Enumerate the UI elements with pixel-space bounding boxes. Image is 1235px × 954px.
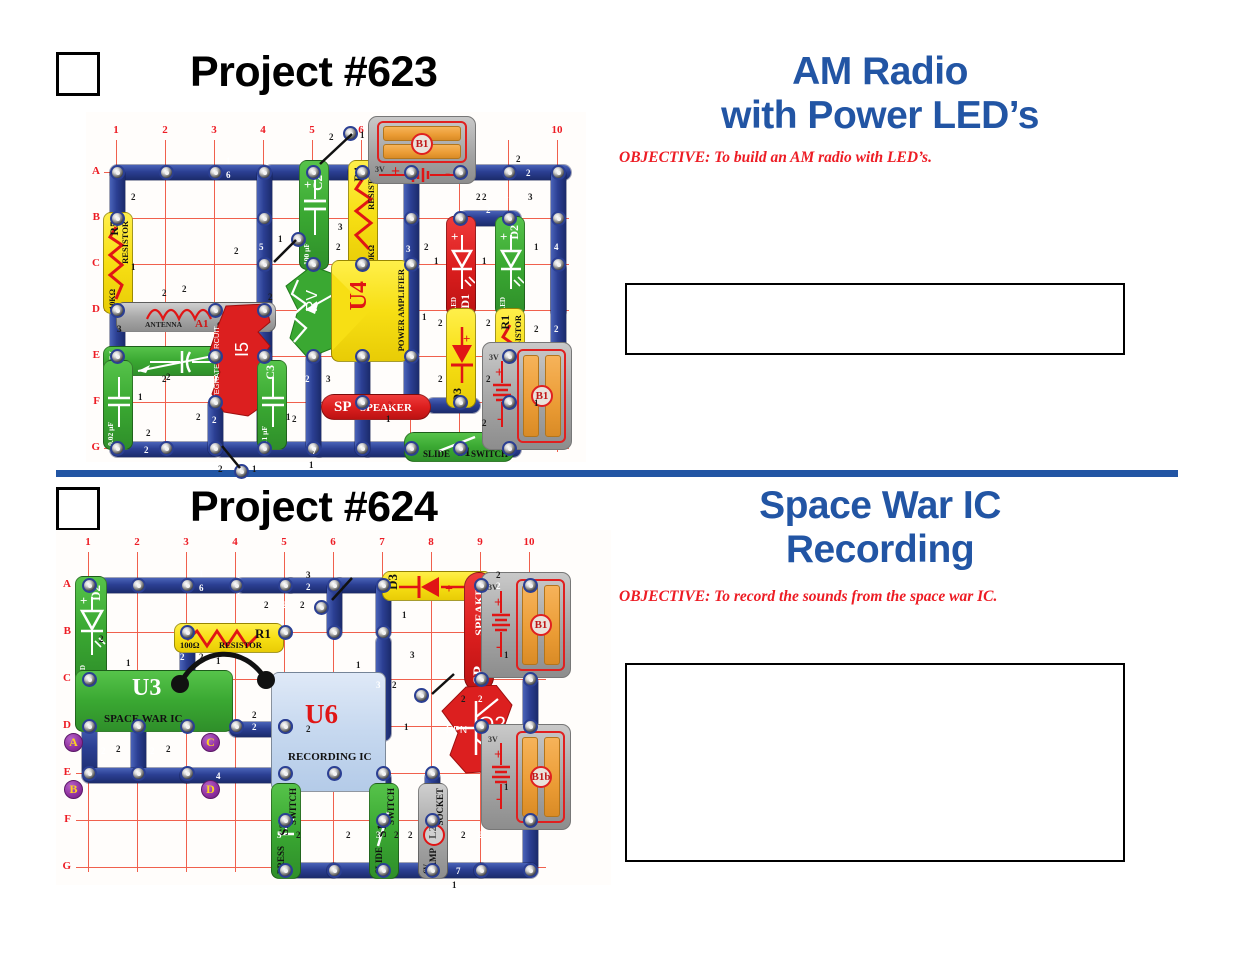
component-d3-plus: + (445, 582, 453, 598)
wire-number: 2 (438, 318, 443, 328)
col-label-8: 8 (424, 536, 438, 548)
peg-a4[interactable] (257, 165, 272, 180)
project-624-title-line1: Space War IC (600, 484, 1160, 528)
peg-a1[interactable] (110, 165, 125, 180)
wire-number: 2 (408, 830, 413, 840)
marker-c: C (201, 733, 220, 752)
wire-number: 1 (434, 256, 439, 266)
wire-number: 2 (305, 374, 310, 384)
wire-number: 1 (216, 656, 221, 666)
peg-d1[interactable] (82, 719, 97, 734)
component-b1-minus: - (497, 411, 502, 428)
wire-number: 2 (264, 600, 269, 610)
project-623-title: AM Radio with Power LED’s (600, 50, 1160, 138)
component-d2-plus: + (80, 593, 87, 609)
wire-number: 1 (360, 130, 365, 140)
col-label-3: 3 (179, 536, 193, 548)
col-label-10: 10 (550, 124, 564, 136)
peg-g4[interactable] (257, 441, 272, 456)
component-u4-name: POWER AMPLIFIER (396, 269, 406, 351)
wire-number: 3 (376, 680, 381, 690)
row-label-d: D (88, 303, 100, 315)
peg-e1[interactable] (82, 766, 97, 781)
wire-number: 2 (218, 464, 223, 474)
peg-d9[interactable] (474, 719, 489, 734)
wire-number: 4 (216, 771, 221, 781)
peg-c10[interactable] (551, 257, 566, 272)
col-label-7: 7 (375, 536, 389, 548)
component-u6-name: RECORDING IC (288, 751, 371, 763)
project-624-objective: OBJECTIVE: To record the sounds from the… (619, 588, 997, 606)
wire-e5-g5 (306, 352, 321, 452)
component-i5-ref: I5 (232, 342, 253, 357)
wire-number: 3 (406, 244, 411, 254)
component-s1-name-left: SLIDE (423, 449, 450, 459)
peg-a4[interactable] (229, 578, 244, 593)
peg-c9[interactable] (474, 672, 489, 687)
component-d1-plus: + (451, 229, 458, 245)
peg-a2[interactable] (131, 578, 146, 593)
wire-number: 2 (394, 830, 399, 840)
wire-number: 2 (461, 830, 466, 840)
component-r5-resistor[interactable]: R5 RESISTOR 10KΩ (103, 212, 133, 314)
peg-f7[interactable] (355, 395, 370, 410)
col-label-9: 9 (473, 536, 487, 548)
wire-number: 1 (286, 412, 291, 422)
peg-a5[interactable] (306, 165, 321, 180)
row-label-c: C (88, 257, 100, 269)
row-label-g: G (88, 441, 100, 453)
component-d1-led[interactable]: + D1 LED (446, 216, 476, 316)
peg-e6[interactable] (327, 766, 342, 781)
wire-number: 1 (404, 722, 409, 732)
wire-number: 2 (234, 246, 239, 256)
wire-number: 2 (101, 746, 106, 756)
project-623-number: Project #623 (190, 48, 437, 97)
peg-a3[interactable] (208, 165, 223, 180)
component-c3-capacitor[interactable]: C3 0.1 μF (257, 360, 287, 450)
component-sp-speaker[interactable]: SP SPEAKER (321, 394, 431, 420)
peg-a3[interactable] (180, 578, 195, 593)
wire-number: 2 (116, 744, 121, 754)
row-label-g: G (59, 860, 71, 872)
wire-number: 2 (424, 242, 429, 252)
peg-f7[interactable] (376, 813, 391, 828)
wire-number: 7 (312, 446, 317, 456)
peg-a7[interactable] (376, 578, 391, 593)
peg-a2[interactable] (159, 165, 174, 180)
peg-f5[interactable] (278, 813, 293, 828)
peg-c1[interactable] (82, 672, 97, 687)
col-label-2: 2 (130, 536, 144, 548)
capacitor-symbol (258, 373, 287, 433)
marker-b: B (64, 780, 83, 799)
wire-number: 2 (496, 581, 501, 591)
wire-a1-a4 (110, 165, 270, 180)
component-b1-plus: + (391, 163, 400, 181)
peg-d1[interactable] (110, 303, 125, 318)
peg-e5[interactable] (278, 766, 293, 781)
component-u4-power-amplifier[interactable]: U4 POWER AMPLIFIER (331, 260, 409, 362)
peg-b1[interactable] (110, 211, 125, 226)
wire-number: 2 (482, 418, 487, 428)
grid-col-4 (235, 552, 236, 872)
wire-number: 1 (356, 660, 361, 670)
jumper-wire-black (166, 630, 286, 700)
row-label-b: B (59, 625, 71, 637)
wire-number: 2 (196, 412, 201, 422)
wire-number: 6 (199, 583, 204, 593)
wire-number: 5 (277, 830, 282, 840)
wire-number: 1 (309, 460, 314, 470)
peg-f10[interactable] (523, 813, 538, 828)
wire-number: 2 (461, 694, 466, 704)
wire-number: 2 (478, 694, 483, 704)
component-b1-battery-right[interactable]: B1 + - 3V (482, 342, 572, 450)
wire-number: 2 (282, 600, 287, 610)
wire-number: 1 (126, 658, 131, 668)
wire-number: 7 (456, 866, 461, 876)
jumper-wire-c5 (264, 232, 304, 272)
wire-number: 1 (504, 650, 509, 660)
peg-c6[interactable] (355, 257, 370, 272)
peg-g10[interactable] (523, 863, 538, 878)
wire-number: 1 (422, 312, 427, 322)
peg-d4[interactable] (257, 303, 272, 318)
wire-number: 2 (252, 710, 257, 720)
wire-number: 2 (292, 414, 297, 424)
project-623-objective: OBJECTIVE: To build an AM radio with LED… (619, 149, 932, 167)
component-d3-diode[interactable]: + D3 (446, 308, 476, 408)
wire-number: 2 (144, 445, 149, 455)
component-d2-led[interactable]: + D2 LED (495, 216, 525, 316)
wire-number: 2 (300, 600, 305, 610)
wire-number: 2 (180, 652, 185, 662)
wire-number: 1 (534, 398, 539, 408)
row-label-f: F (59, 813, 71, 825)
wire-number: 3 (326, 374, 331, 384)
peg-a1[interactable] (82, 578, 97, 593)
component-r5-name: RESISTOR (120, 221, 130, 264)
peg-e7[interactable] (404, 349, 419, 364)
component-d1-ref: D1 (458, 294, 473, 309)
wire-number: 2 (199, 652, 204, 662)
wire-number: 1 (199, 569, 204, 579)
wire-number: 1 (452, 880, 457, 890)
jumper-wire-g5 (214, 442, 254, 482)
jumper-wire-a6 (322, 572, 366, 610)
peg-e3[interactable] (208, 349, 223, 364)
row-label-e: E (88, 349, 100, 361)
col-label-6: 6 (326, 536, 340, 548)
peg-d7[interactable] (278, 719, 293, 734)
project-624-title-line2: Recording (600, 528, 1160, 572)
col-label-10: 10 (522, 536, 536, 548)
marker-d: D (201, 780, 220, 799)
wire-number: 2 (534, 324, 539, 334)
wire-number: 2 (212, 415, 217, 425)
wire-number: 2 (182, 284, 187, 294)
wire-number: 2 (438, 374, 443, 384)
component-b1b-badge: B1b (530, 766, 552, 788)
peg-d10[interactable] (523, 719, 538, 734)
peg-g2[interactable] (159, 441, 174, 456)
wire-number: 1 (386, 414, 391, 424)
peg-d6[interactable] (229, 719, 244, 734)
wire-number: 2 (252, 722, 257, 732)
peg-b6[interactable] (327, 625, 342, 640)
wire-number: 3 (388, 400, 393, 410)
component-b1-plus: + (494, 595, 503, 612)
component-c1-capacitor[interactable]: 0.02 μF (103, 360, 133, 450)
wire-number: 3 (338, 222, 343, 232)
component-a1-ref: A1 (195, 318, 208, 330)
peg-b4[interactable] (257, 211, 272, 226)
wire-number: 2 (526, 168, 531, 178)
col-label-5: 5 (277, 536, 291, 548)
peg-e5[interactable] (306, 349, 321, 364)
peg-e2[interactable] (131, 766, 146, 781)
wire-number: 2 (166, 744, 171, 754)
col-label-1: 1 (109, 124, 123, 136)
wire-number: 2 (131, 192, 136, 202)
component-sp-ref: SP (334, 399, 352, 416)
peg-e4[interactable] (257, 349, 272, 364)
peg-g6[interactable] (355, 441, 370, 456)
wire-number: 2 (478, 830, 483, 840)
col-label-4: 4 (256, 124, 270, 136)
wire-number: 2 (554, 324, 559, 334)
wire-number: 2 (166, 372, 171, 382)
project-623-circuit-board: 1 2 3 4 5 6 10 A B C D E F G R5 RESISTOR (86, 112, 586, 462)
peg-e9[interactable] (502, 349, 517, 364)
wire-number: 2 (150, 746, 155, 756)
component-d2-ref: D2 (507, 225, 522, 240)
peg-e1[interactable] (110, 349, 125, 364)
peg-c10[interactable] (523, 672, 538, 687)
peg-e6[interactable] (355, 349, 370, 364)
project-624-circuit-board: 1 2 3 4 5 6 7 8 9 10 A B C D E F G (56, 530, 611, 885)
wire-number: 2 (306, 582, 311, 592)
wire-number: 3 (528, 192, 533, 202)
peg-g7[interactable] (376, 863, 391, 878)
wire-number: 2 (336, 242, 341, 252)
wire-number: 2 (486, 374, 491, 384)
peg-g7[interactable] (404, 441, 419, 456)
component-u4-ref: U4 (346, 281, 373, 310)
peg-a9[interactable] (474, 578, 489, 593)
peg-d3[interactable] (208, 303, 223, 318)
row-label-e: E (59, 766, 71, 778)
component-c3-ref: C3 (263, 365, 278, 380)
wire-number: 1 (138, 392, 143, 402)
peg-a6[interactable] (355, 165, 370, 180)
component-a1-name-left: ANTENNA (145, 320, 182, 329)
peg-a7[interactable] (404, 165, 419, 180)
wire-number: 2 (162, 288, 167, 298)
wire-number: 2 (99, 634, 104, 644)
wire-number: 1 (278, 234, 283, 244)
peg-g8[interactable] (453, 441, 468, 456)
wire-number: 2 (486, 318, 491, 328)
peg-e7[interactable] (376, 766, 391, 781)
component-rv-ref: RV (304, 290, 322, 312)
peg-b9[interactable] (502, 211, 517, 226)
peg-b8[interactable] (453, 211, 468, 226)
wire-number: 1 (504, 782, 509, 792)
wire-number: 2 (392, 680, 397, 690)
peg-g6[interactable] (327, 863, 342, 878)
project-624-title: Space War IC Recording (600, 484, 1160, 572)
row-label-f: F (88, 395, 100, 407)
wire-number: 2 (516, 154, 521, 164)
peg-a5[interactable] (278, 578, 293, 593)
project-623-title-line1: AM Radio (600, 50, 1160, 94)
wire-number: 1 (226, 156, 231, 166)
peg-g1[interactable] (110, 441, 125, 456)
component-b1-minus: - (445, 165, 450, 183)
peg-e8[interactable] (425, 766, 440, 781)
row-label-d: D (59, 719, 71, 731)
wire-number: 3 (376, 830, 381, 840)
peg-a10[interactable] (523, 578, 538, 593)
wire-number: 3 (306, 570, 311, 580)
row-label-b: B (88, 211, 100, 223)
wire-number: 3 (117, 324, 122, 334)
peg-c5[interactable] (306, 257, 321, 272)
peg-f3[interactable] (208, 395, 223, 410)
project-623-answer-box[interactable] (625, 283, 1125, 355)
wire-number: 2 (146, 428, 151, 438)
row-label-c: C (59, 672, 71, 684)
wire-number: 6 (226, 170, 231, 180)
wire-number: 2 (476, 192, 481, 202)
wire-number: 1 (534, 242, 539, 252)
row-label-a: A (88, 165, 100, 177)
project-624-number: Project #624 (190, 483, 437, 532)
grid-row-f (76, 820, 546, 821)
wire-number: 5 (259, 242, 264, 252)
component-b1-plus: + (495, 365, 504, 382)
peg-f8[interactable] (425, 813, 440, 828)
peg-f9[interactable] (502, 395, 517, 410)
peg-b7[interactable] (404, 211, 419, 226)
peg-e3[interactable] (180, 766, 195, 781)
wire-number: 2 (504, 190, 509, 200)
wire-number: 2 (486, 205, 491, 215)
project-623-checkbox[interactable] (56, 52, 100, 96)
peg-g5[interactable] (278, 863, 293, 878)
peg-g8[interactable] (425, 863, 440, 878)
component-d3-plus: + (463, 331, 470, 347)
wire-number: 3 (410, 650, 415, 660)
peg-a10[interactable] (551, 165, 566, 180)
component-b1-voltage: 3V (489, 353, 499, 362)
wire-number: 2 (306, 724, 311, 734)
wire-number: 2 (329, 132, 334, 142)
wire-number: 1 (131, 262, 136, 272)
project-623-title-line2: with Power LED’s (600, 94, 1160, 138)
component-b1b-voltage: 3V (488, 735, 498, 744)
wire-number: 2 (346, 830, 351, 840)
component-b1-minus: - (496, 639, 501, 656)
peg-f8[interactable] (453, 395, 468, 410)
wire-number: 1 (252, 464, 257, 474)
marker-a: A (64, 733, 83, 752)
wire-number: 1 (482, 256, 487, 266)
peg-d3[interactable] (180, 719, 195, 734)
col-label-4: 4 (228, 536, 242, 548)
wire-number: 2 (268, 292, 273, 302)
component-b1-voltage: 3V (375, 165, 385, 174)
peg-g9[interactable] (502, 441, 517, 456)
peg-g9[interactable] (474, 863, 489, 878)
peg-a8[interactable] (453, 165, 468, 180)
wire-number: 2 (482, 192, 487, 202)
component-b1-badge: B1 (530, 614, 552, 636)
wire-number: 1 (402, 610, 407, 620)
wire-number: 2 (496, 570, 501, 580)
component-r1-ref: R1 (498, 315, 513, 330)
wire-number: 4 (554, 242, 559, 252)
component-b1b-plus: + (494, 747, 503, 764)
row-label-a: A (59, 578, 71, 590)
col-label-1: 1 (81, 536, 95, 548)
peg-c7[interactable] (404, 257, 419, 272)
col-label-3: 3 (207, 124, 221, 136)
project-624-checkbox[interactable] (56, 487, 100, 531)
project-624-answer-box[interactable] (625, 663, 1125, 862)
col-label-2: 2 (158, 124, 172, 136)
component-q2-name: NPN (446, 725, 467, 736)
component-b1-badge: B1 (411, 133, 433, 155)
diode-symbol (447, 325, 476, 385)
peg-b10[interactable] (551, 211, 566, 226)
peg-a9[interactable] (502, 165, 517, 180)
peg-d2[interactable] (131, 719, 146, 734)
component-b1b-minus: - (496, 791, 501, 808)
component-u3-ref: U3 (132, 675, 161, 702)
wire-number: 2 (296, 830, 301, 840)
peg-b7[interactable] (376, 625, 391, 640)
